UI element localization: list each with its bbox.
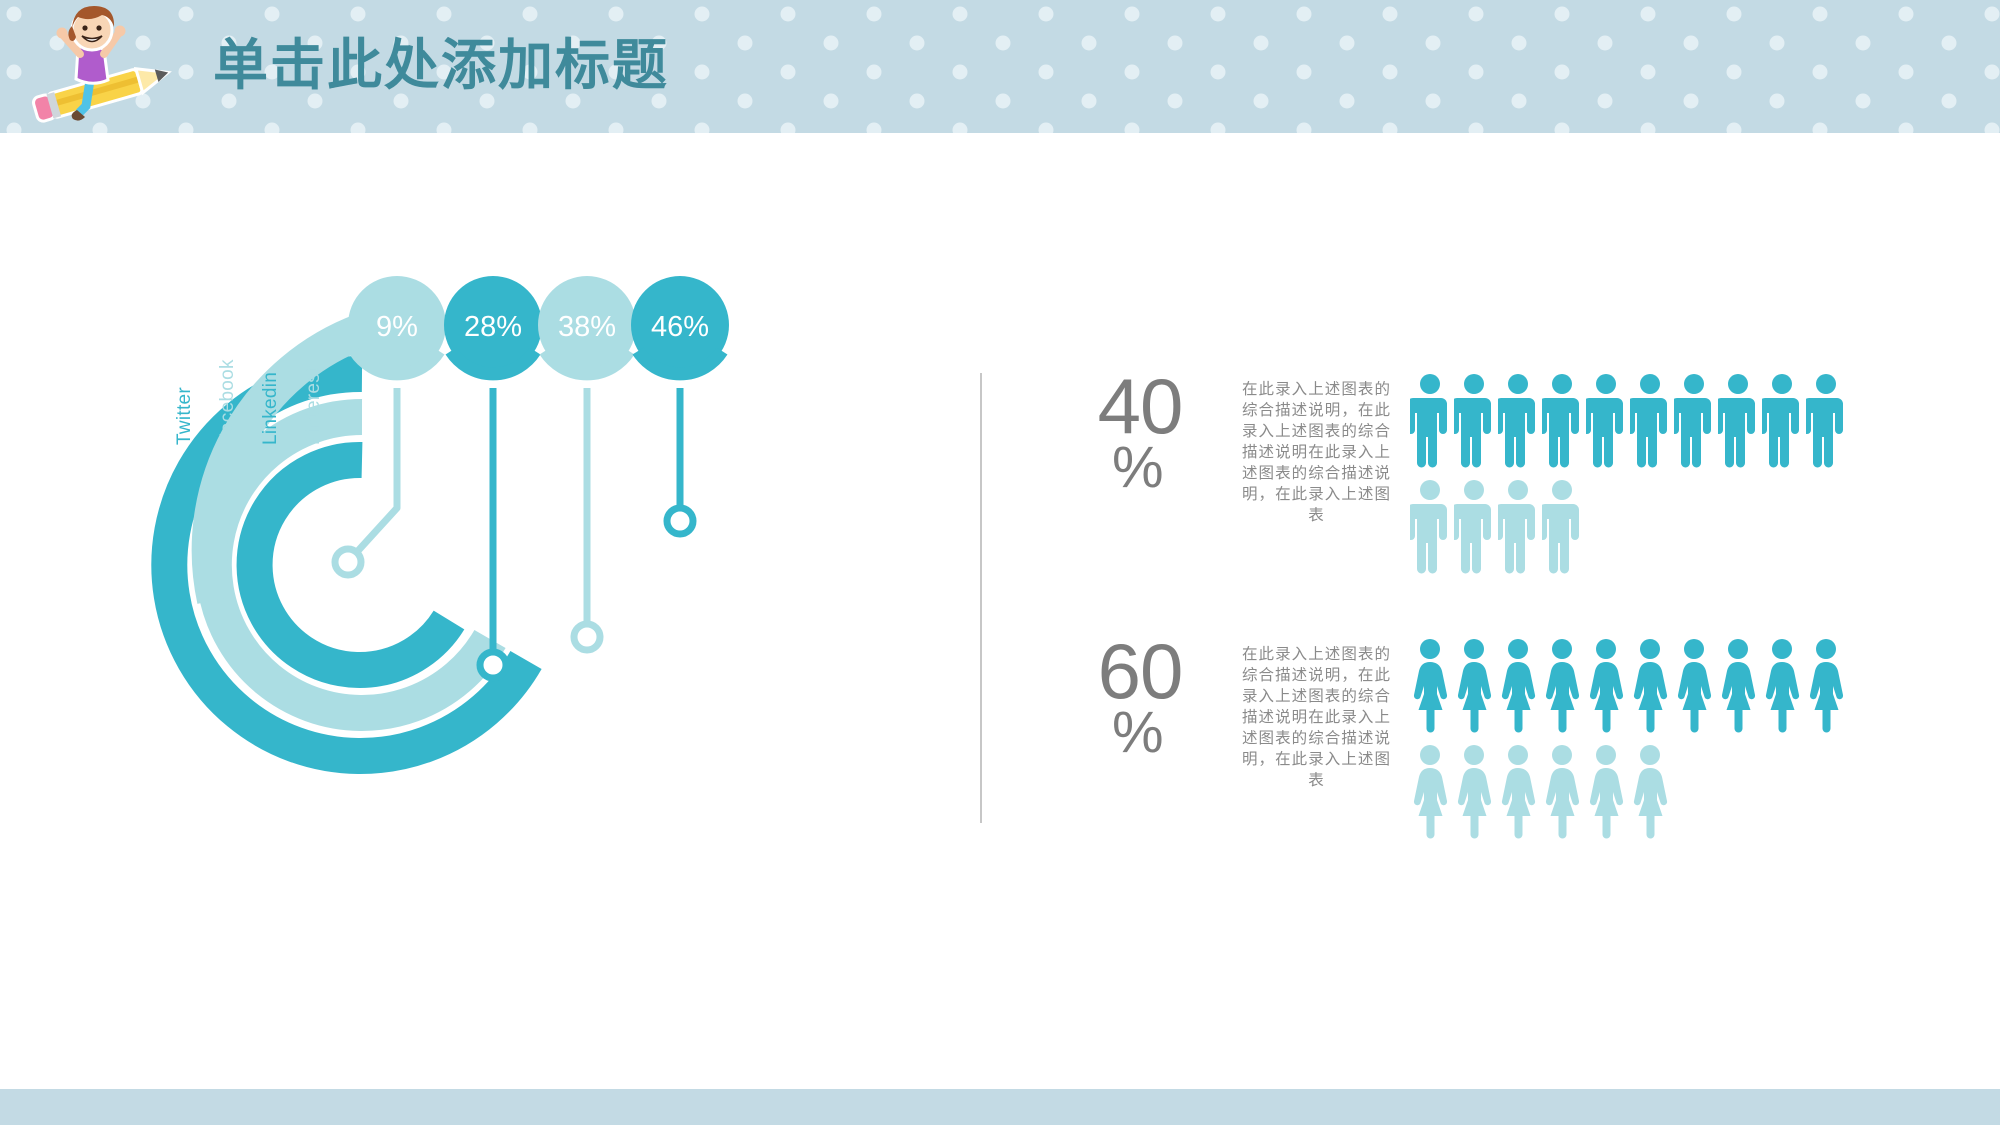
female-figure-icon (1674, 638, 1714, 734)
male-figure-icon (1410, 373, 1450, 469)
male-figure-icon (1630, 373, 1670, 469)
female-figure-icon (1806, 638, 1846, 734)
balloon-marker-28[interactable]: 28% (444, 276, 542, 374)
stat-number-60: 60 (1060, 638, 1220, 704)
pictogram-row-faded-male (1410, 479, 1910, 575)
section-divider (980, 373, 982, 823)
female-figure-icon-faded (1542, 744, 1582, 840)
ring-marker-facebook (574, 624, 600, 650)
balloon-label-46: 46% (651, 311, 709, 343)
pictogram-row-faded-female (1410, 744, 1910, 840)
male-figure-icon (1718, 373, 1758, 469)
balloon-marker-46[interactable]: 46% (631, 276, 729, 374)
slide-footer (0, 1089, 2000, 1125)
male-figure-icon (1542, 373, 1582, 469)
slide-header: 单击此处添加标题 (0, 0, 2000, 133)
connector-twitter (667, 388, 693, 534)
male-figure-icon (1498, 373, 1538, 469)
female-figure-icon-faded (1410, 744, 1450, 840)
stat-description-female: 在此录入上述图表的综合描述说明，在此录入上述图表的综合描述说明在此录入上述图表的… (1242, 644, 1390, 791)
balloon-label-38: 38% (558, 311, 616, 343)
page-title: 单击此处添加标题 (213, 30, 669, 100)
male-figure-icon (1762, 373, 1802, 469)
slide-body: 9% 28% 38% 46% Twitter Facebook (0, 133, 2000, 1089)
balloon-marker-38[interactable]: 38% (538, 276, 636, 374)
stat-description-male: 在此录入上述图表的综合描述说明，在此录入上述图表的综合描述说明在此录入上述图表的… (1242, 379, 1390, 526)
balloon-label-9: 9% (376, 311, 418, 343)
pictogram-row-filled-female (1410, 638, 1910, 734)
arc-percentage-chart: 9% 28% 38% 46% Twitter Facebook (150, 263, 790, 843)
female-figure-icon (1410, 638, 1450, 734)
male-figure-icon (1674, 373, 1714, 469)
female-figure-icon (1762, 638, 1802, 734)
connector-facebook (574, 388, 600, 650)
ring-marker-twitter (667, 508, 693, 534)
stat-percent-sign-40: % (1060, 439, 1220, 497)
pictogram-row-filled-male (1410, 373, 1910, 469)
girl-riding-pencil-icon (20, 2, 190, 130)
balloon-label-28: 28% (464, 311, 522, 343)
female-figure-icon (1586, 638, 1626, 734)
female-figure-icon (1498, 638, 1538, 734)
female-figure-icon-faded (1630, 744, 1670, 840)
male-figure-icon-faded (1542, 479, 1582, 575)
male-figure-icon-faded (1454, 479, 1494, 575)
pictogram-male (1410, 373, 1910, 633)
stat-block-male: 40 % 在此录入上述图表的综合描述说明，在此录入上述图表的综合描述说明在此录入… (1060, 373, 1910, 643)
arc-axis-label-facebook: Facebook (217, 359, 239, 445)
female-figure-icon (1718, 638, 1758, 734)
stat-block-female: 60 % 在此录入上述图表的综合描述说明，在此录入上述图表的综合描述说明在此录入… (1060, 638, 1910, 908)
balloon-marker-9[interactable]: 9% (348, 276, 446, 374)
stat-value-male: 40 % (1060, 373, 1220, 497)
female-figure-icon-faded (1586, 744, 1626, 840)
stat-number-40: 40 (1060, 373, 1220, 439)
female-figure-icon-faded (1498, 744, 1538, 840)
ring-marker-linkedin (480, 652, 506, 678)
male-figure-icon-faded (1498, 479, 1538, 575)
arc-axis-label-pinterest: Pinterest (303, 367, 325, 445)
stat-value-female: 60 % (1060, 638, 1220, 762)
male-figure-icon (1806, 373, 1846, 469)
pictogram-female (1410, 638, 1910, 898)
arc-axis-label-linkedin: Linkedin (260, 372, 282, 445)
male-figure-icon (1454, 373, 1494, 469)
ring-marker-pinterest (335, 549, 361, 575)
female-figure-icon (1630, 638, 1670, 734)
male-figure-icon-faded (1410, 479, 1450, 575)
arc-chart-svg: 9% 28% 38% 46% (150, 263, 790, 843)
female-figure-icon (1454, 638, 1494, 734)
male-figure-icon (1586, 373, 1626, 469)
stat-percent-sign-60: % (1060, 704, 1220, 762)
female-figure-icon (1542, 638, 1582, 734)
connector-linkedin (480, 388, 506, 678)
female-figure-icon-faded (1454, 744, 1494, 840)
arc-axis-label-twitter: Twitter (174, 387, 196, 445)
